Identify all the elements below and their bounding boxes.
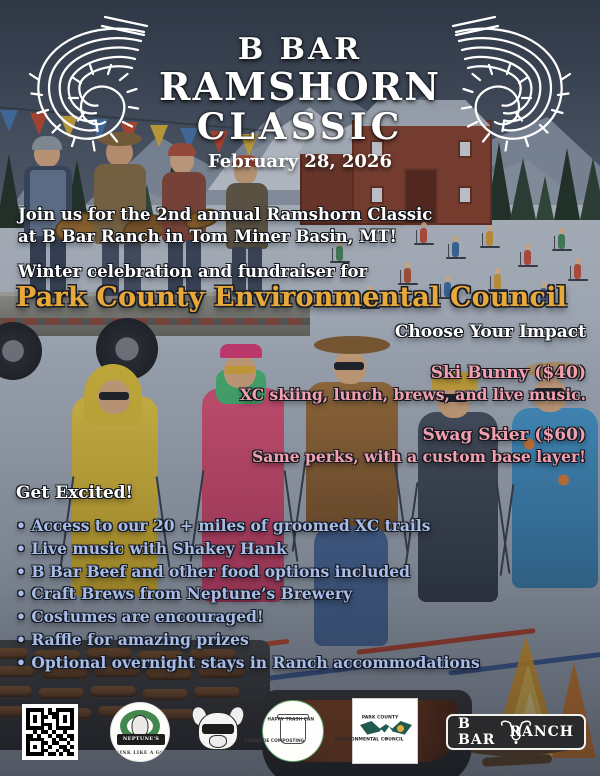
- title-line-3: CLASSIC: [0, 108, 600, 146]
- list-item: • Raffle for amazing prizes: [16, 629, 516, 652]
- qr-code[interactable]: [22, 704, 78, 760]
- neptunes-brewery-logo: NEPTUNE'S DRINK LIKE A GOD: [110, 702, 170, 762]
- ticket-tier-ski-bunny: Ski Bunny ($40) XC skiing, lunch, brews,…: [240, 363, 586, 404]
- beneficiary-name: Park County Environmental Council: [16, 282, 576, 313]
- b-bar-ranch-logo: B BAR RANCH: [446, 714, 586, 750]
- get-excited-heading: Get Excited!: [16, 483, 133, 503]
- title-line-1: B BAR: [0, 34, 600, 66]
- intro-text: Join us for the 2nd annual Ramshorn Clas…: [18, 204, 448, 249]
- neptunes-tagline: DRINK LIKE A GOD: [111, 751, 169, 756]
- tier-description: XC skiing, lunch, brews, and live music.: [240, 385, 586, 404]
- list-item: • Optional overnight stays in Ranch acco…: [16, 652, 516, 675]
- sponsor-park-county-environmental-council[interactable]: PARK COUNTY ENVIRONMENTAL COUNCIL: [352, 698, 418, 764]
- pcec-ring-text: PARK COUNTY ENVIRONMENTAL COUNCIL: [353, 699, 417, 763]
- features-list: • Access to our 20 + miles of groomed XC…: [16, 515, 516, 674]
- sponsor-neptunes-brewery[interactable]: NEPTUNE'S DRINK LIKE A GOD: [110, 702, 170, 762]
- list-item: • Craft Brews from Neptune’s Brewery: [16, 583, 516, 606]
- list-item: • Live music with Shakey Hank: [16, 538, 516, 561]
- steer-skull-icon: [499, 719, 533, 745]
- sponsor-logo-bar: NEPTUNE'S DRINK LIKE A GOD: [0, 690, 600, 768]
- dog-logo: [190, 700, 246, 762]
- event-date: February 28, 2026: [0, 151, 600, 172]
- list-item: • B Bar Beef and other food options incl…: [16, 561, 516, 584]
- list-item: • Access to our 20 + miles of groomed XC…: [16, 515, 516, 538]
- poster-content: B BAR RAMSHORN CLASSIC February 28, 2026…: [0, 0, 600, 776]
- list-item: • Costumes are encouraged!: [16, 606, 516, 629]
- sponsor-dog-logo[interactable]: [190, 700, 246, 762]
- sponsor-happy-trash-can[interactable]: HAPPY TRASH CAN CURBSIDE COMPOSTING: [262, 700, 324, 762]
- ticket-tier-swag-skier: Swag Skier ($60) Same perks, with a cust…: [252, 425, 586, 466]
- tier-name: Ski Bunny ($40): [240, 363, 586, 383]
- sponsor-b-bar-ranch[interactable]: B BAR RANCH: [446, 714, 586, 750]
- happy-trash-can-ring-text: HAPPY TRASH CAN CURBSIDE COMPOSTING: [263, 701, 323, 761]
- title-line-2: RAMSHORN: [0, 67, 600, 107]
- happy-trash-can-logo: HAPPY TRASH CAN CURBSIDE COMPOSTING: [262, 700, 324, 762]
- pcec-logo: PARK COUNTY ENVIRONMENTAL COUNCIL: [352, 698, 418, 764]
- fundraiser-subheading: Winter celebration and fundraiser for: [18, 262, 478, 281]
- tier-description: Same perks, with a custom base layer!: [252, 447, 586, 466]
- impact-heading: Choose Your Impact: [395, 322, 586, 342]
- poster-title-block: B BAR RAMSHORN CLASSIC February 28, 2026: [0, 34, 600, 172]
- qr-code-image: [22, 704, 78, 760]
- neptunes-banner-text: NEPTUNE'S: [117, 734, 165, 745]
- event-poster: B BAR RAMSHORN CLASSIC February 28, 2026…: [0, 0, 600, 776]
- tier-name: Swag Skier ($60): [252, 425, 586, 445]
